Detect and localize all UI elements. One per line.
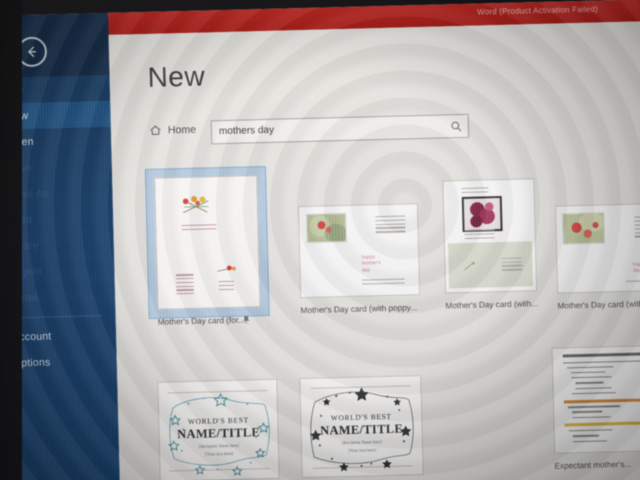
home-label: Home [168,123,196,136]
doc-title-bar [563,353,640,358]
card-footer-lines [362,278,405,287]
template-caption: Mother's Day card (with... [445,299,555,311]
template-thumbnail[interactable] [552,345,640,454]
search-row: Home mothers day [149,114,480,146]
template-tile[interactable]: Mother's Day card (for... [154,175,260,310]
small-flower-icon [214,263,237,277]
page-title: New [147,60,205,93]
card-greeting-text: happyday [633,261,640,274]
card-photo [306,213,346,243]
certificate-artwork: WORLD'S BEST NAME/TITLE [Recipient Name … [158,380,278,480]
template-thumbnail[interactable]: WORLD'S BEST NAME/TITLE [Recipient Name … [299,375,423,478]
back-arrow-glyph [24,44,40,60]
new-document-pane: New Home mothers day [109,21,640,480]
template-caption: Mother's Day card (with poppy... [300,303,430,315]
template-caption: Expectant mother's... [554,459,640,471]
search-icon[interactable] [450,120,463,133]
card-body-lines-right [218,281,233,293]
flower-bouquet-icon [176,191,219,221]
app-title: Word (Product Activation Failed) [477,5,598,17]
card-footer-lines [626,280,640,285]
card-body-lines-left [176,274,195,297]
template-thumbnail[interactable] [154,175,260,310]
card-artwork [155,176,259,309]
card-framed-photo [462,196,503,232]
template-tile[interactable]: happyday Mother's Day card (with poppy..… [555,203,640,294]
home-icon [149,124,162,137]
photographed-screen: Word (Product Activation Failed) Info Ne… [0,0,640,480]
template-grid: Mother's Day card (for... [142,146,640,160]
card-photo [562,212,605,244]
template-thumbnail[interactable]: WORLD'S BEST NAME/TITLE [Recipient Name … [157,379,279,480]
card-mid-lines [464,229,495,241]
template-thumbnail[interactable]: happymother'sday [298,203,420,298]
screen-surface: Word (Product Activation Failed) Info Ne… [0,0,640,480]
monitor-bezel-left [0,0,22,480]
certificate-line-2: NAME/TITLE [159,425,277,443]
search-input[interactable]: mothers day [211,114,470,145]
template-caption: Mother's Day card (for... [158,315,268,327]
doc-highlight-orange [564,398,640,403]
sidebar-divider [10,315,102,318]
card-top-lines [461,187,488,195]
card-greeting-text: happymother'sday [362,254,382,274]
template-tile[interactable]: WORLD'S BEST NAME/TITLE [Recipient Name … [157,379,279,480]
home-link[interactable]: Home [149,123,196,137]
search-input-value: mothers day [219,125,274,137]
template-tile[interactable]: Expectant mother's... [552,345,640,454]
floral-photo [464,198,501,230]
pin-icon[interactable] [242,315,251,324]
template-tile[interactable]: happymother'sday Mother's Day card (with… [298,203,420,298]
certificate-artwork: WORLD'S BEST NAME/TITLE [Recipient Name … [300,376,422,477]
checklist-artwork [553,346,640,452]
card-text-lines [634,216,640,240]
poppy-photo [563,213,604,243]
card-text-lines [375,215,406,235]
template-tile[interactable]: WORLD'S BEST NAME/TITLE [Recipient Name … [299,375,423,478]
card-greeting-lines [182,224,217,232]
card-panel-lines [501,257,523,273]
template-thumbnail[interactable] [442,178,537,293]
doc-highlight-yellow [564,421,640,426]
poppy-photo [307,214,345,242]
sprig-icon [463,261,476,272]
template-tile[interactable]: Mother's Day card (with... [442,178,537,293]
certificate-line-2: NAME/TITLE [301,421,421,439]
template-caption: Mother's Day card (with poppy... [557,298,640,310]
template-thumbnail[interactable]: happyday [555,203,640,294]
